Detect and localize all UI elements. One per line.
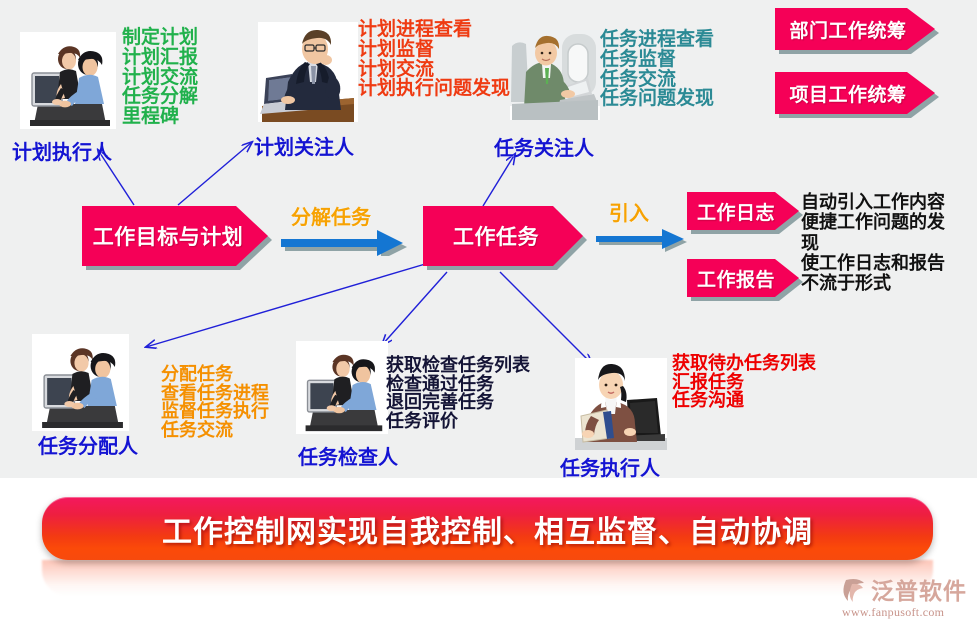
list-item: 任务评价 bbox=[386, 413, 530, 432]
list-item: 计划汇报 bbox=[122, 48, 198, 68]
list-item: 任务沟通 bbox=[672, 392, 816, 411]
businessman-laptop-photo bbox=[258, 22, 358, 122]
chevron-work-task[interactable]: 工作任务 bbox=[423, 206, 583, 266]
logo-name: 泛普软件 bbox=[871, 572, 967, 606]
import-arrow bbox=[594, 226, 688, 252]
list-item: 制定计划 bbox=[122, 28, 198, 48]
task-assigner-task-list: 分配任务 查看任务进程 监督任务执行 任务交流 bbox=[161, 366, 269, 441]
role-label-task-inspector: 任务检查人 bbox=[298, 441, 398, 470]
summary-banner: 工作控制网实现自我控制、相互监督、自动协调 bbox=[42, 497, 933, 560]
list-item: 获取待办任务列表 bbox=[672, 355, 816, 374]
list-item: 计划进程查看 bbox=[358, 20, 510, 40]
man-airplane-laptop-photo bbox=[510, 30, 600, 120]
flow-label-import: 引入 bbox=[609, 197, 649, 226]
plan-follower-task-list: 计划进程查看 计划监督 计划交流 计划执行问题发现 bbox=[358, 20, 510, 99]
chevron-label: 工作目标与计划 bbox=[93, 221, 258, 251]
chevron-label: 项目工作统筹 bbox=[789, 80, 920, 107]
two-people-tablet-photo bbox=[32, 334, 129, 431]
chevron-work-log[interactable]: 工作日志 bbox=[687, 192, 799, 230]
banner-reflection bbox=[42, 560, 933, 596]
chevron-label: 部门工作统筹 bbox=[789, 16, 920, 43]
role-label-task-assigner: 任务分配人 bbox=[38, 430, 138, 459]
description-line: 使工作日志和报告 bbox=[801, 254, 945, 274]
role-label-plan-executor: 计划执行人 bbox=[12, 136, 112, 165]
summary-banner-text: 工作控制网实现自我控制、相互监督、自动协调 bbox=[162, 507, 813, 551]
plan-executor-task-list: 制定计划 计划汇报 计划交流 任务分解 里程碑 bbox=[122, 28, 198, 127]
list-item: 任务进程查看 bbox=[600, 30, 714, 50]
list-item: 任务交流 bbox=[161, 422, 269, 441]
list-item: 任务监督 bbox=[600, 50, 714, 70]
chevron-label: 工作日志 bbox=[697, 198, 789, 225]
list-item: 获取检查任务列表 bbox=[386, 357, 530, 376]
logo-url: www.fanpusoft.com bbox=[842, 605, 967, 620]
chevron-work-goal-and-plan[interactable]: 工作目标与计划 bbox=[82, 206, 268, 266]
list-item: 分配任务 bbox=[161, 366, 269, 385]
chevron-department-coordination[interactable]: 部门工作统筹 bbox=[775, 8, 935, 50]
description-line: 现 bbox=[801, 234, 945, 254]
role-label-task-executor: 任务执行人 bbox=[560, 452, 660, 481]
decompose-arrow bbox=[277, 226, 407, 256]
list-item: 计划执行问题发现 bbox=[358, 79, 510, 99]
chevron-work-report[interactable]: 工作报告 bbox=[687, 259, 799, 297]
flow-label-decompose: 分解任务 bbox=[291, 201, 371, 230]
two-people-tablet-photo bbox=[296, 341, 388, 434]
list-item: 里程碑 bbox=[122, 107, 198, 127]
diagram-canvas: 制定计划 计划汇报 计划交流 任务分解 里程碑 计划执行人 bbox=[0, 0, 977, 624]
task-inspector-task-list: 获取检查任务列表 检查通过任务 退回完善任务 任务评价 bbox=[386, 357, 530, 432]
task-follower-task-list: 任务进程查看 任务监督 任务交流 任务问题发现 bbox=[600, 30, 714, 109]
outputs-description: 自动引入工作内容 便捷工作问题的发 现 使工作日志和报告 不流于形式 bbox=[801, 193, 945, 295]
role-label-plan-follower: 计划关注人 bbox=[254, 131, 354, 160]
list-item: 计划监督 bbox=[358, 40, 510, 60]
role-label-task-follower: 任务关注人 bbox=[494, 132, 594, 161]
description-line: 便捷工作问题的发 bbox=[801, 213, 945, 233]
chevron-project-coordination[interactable]: 项目工作统筹 bbox=[775, 72, 935, 114]
chevron-label: 工作报告 bbox=[697, 265, 789, 292]
description-line: 自动引入工作内容 bbox=[801, 193, 945, 213]
fanpu-software-logo: 泛普软件 www.fanpusoft.com bbox=[840, 572, 967, 620]
woman-folder-laptop-photo bbox=[575, 358, 667, 450]
chevron-label: 工作任务 bbox=[453, 221, 553, 251]
fanpu-logo-icon bbox=[840, 576, 868, 602]
list-item: 任务问题发现 bbox=[600, 89, 714, 109]
description-line: 不流于形式 bbox=[801, 274, 945, 294]
task-executor-task-list: 获取待办任务列表 汇报任务 任务沟通 bbox=[672, 355, 816, 411]
two-people-tablet-photo bbox=[20, 32, 116, 129]
